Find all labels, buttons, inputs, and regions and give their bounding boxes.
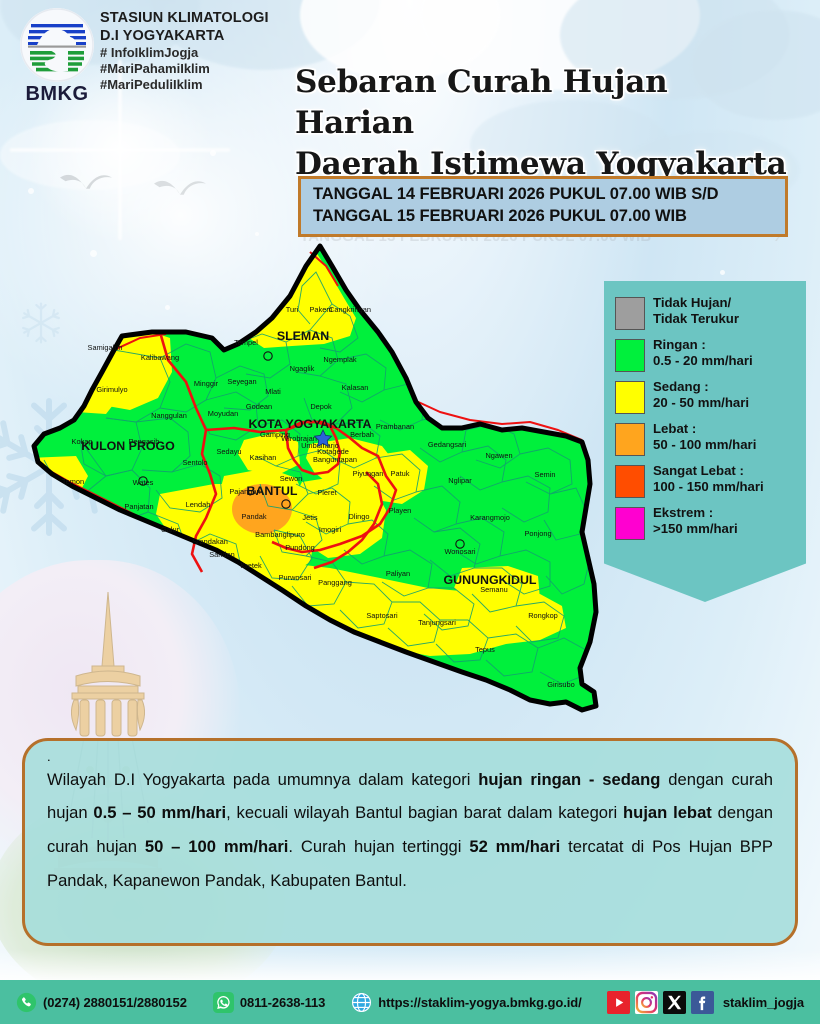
regency-label: BANTUL — [247, 484, 298, 498]
description-box: . Wilayah D.I Yogyakarta pada umumnya da… — [22, 738, 798, 946]
district-label: Pleret — [317, 488, 336, 497]
district-label: Sanden — [209, 550, 234, 559]
district-label: Berbah — [350, 430, 374, 439]
district-label: Turi — [286, 305, 299, 314]
district-label: Panggang — [318, 578, 352, 587]
district-label: Lendah — [186, 500, 211, 509]
district-label: Girisubo — [547, 680, 575, 689]
legend-swatch — [615, 381, 645, 414]
bird-icon — [58, 172, 114, 198]
district-label: Ngaglik — [290, 364, 315, 373]
description-text: Wilayah D.I Yogyakarta pada umumnya dala… — [47, 763, 773, 898]
legend-label: Sedang :20 - 50 mm/hari — [653, 379, 749, 412]
page-title: Sebaran Curah Hujan Harian Daerah Istime… — [295, 62, 795, 186]
district-label: Temon — [62, 477, 84, 486]
district-label: Tepus — [475, 645, 495, 654]
district-label: Girimulyo — [96, 385, 127, 394]
regency-label: SLEMAN — [277, 329, 329, 343]
district-label: Playen — [389, 506, 412, 515]
district-label: Dlingo — [349, 512, 370, 521]
district-label: Tanjungsari — [418, 618, 456, 627]
legend-swatch — [615, 297, 645, 330]
hashtag-info-iklim-jogja: # InfoIklimJogja — [100, 45, 320, 61]
district-label: Nglipar — [448, 476, 472, 485]
district-label: Moyudan — [208, 409, 238, 418]
district-label: Piyungan — [353, 469, 384, 478]
district-label: Tempel — [234, 338, 258, 347]
legend-label: Ekstrem :>150 mm/hari — [653, 505, 738, 538]
district-label: Semin — [535, 470, 556, 479]
legend-swatch — [615, 339, 645, 372]
district-label: Kalasan — [342, 383, 369, 392]
district-label: Minggir — [194, 379, 219, 388]
social-handle[interactable]: staklim_jogja — [723, 995, 804, 1010]
district-label: Kretek — [240, 561, 262, 570]
title-line-1: Sebaran Curah Hujan Harian — [295, 62, 795, 144]
hashtag-mari-peduli-iklim: #MariPeduliIklim — [100, 77, 320, 93]
snow-dot — [28, 188, 34, 194]
bmkg-logo-icon — [20, 8, 94, 82]
bmkg-logo-text: BMKG — [14, 83, 100, 106]
lead-dot: . — [47, 751, 773, 763]
district-label: Gamping — [260, 430, 290, 439]
footer-fade — [0, 950, 820, 980]
regency-label: GUNUNGKIDUL — [444, 573, 537, 587]
district-label: Galur — [161, 525, 180, 534]
legend-label: Lebat :50 - 100 mm/hari — [653, 421, 756, 454]
date-line-1: TANGGAL 14 FEBRUARI 2026 PUKUL 07.00 WIB… — [313, 184, 773, 206]
phone-icon — [16, 992, 37, 1013]
district-label: Mlati — [265, 387, 281, 396]
date-banner: TANGGAL 14 FEBRUARI 2026 PUKUL 07.00 WIB… — [298, 176, 788, 237]
legend-row: Tidak Hujan/Tidak Terukur — [615, 295, 798, 330]
district-label: Bambanglipuro — [255, 530, 305, 539]
district-label: Panjatan — [124, 502, 153, 511]
legend-row: Sangat Lebat :100 - 150 mm/hari — [615, 463, 798, 498]
district-label: Banguntapan — [313, 455, 357, 464]
rainfall-map[interactable]: SamigaluhKalibawangGirimulyoNanggulanKok… — [10, 232, 630, 732]
whatsapp-icon — [213, 992, 234, 1013]
legend-row: Ringan :0.5 - 20 mm/hari — [615, 337, 798, 372]
x-twitter-icon[interactable] — [663, 991, 686, 1014]
regency-label: KULON PROGO — [81, 439, 175, 453]
district-label: Pundong — [285, 543, 315, 552]
district-label: Paliyan — [386, 569, 410, 578]
legend-row: Sedang :20 - 50 mm/hari — [615, 379, 798, 414]
legend-row: Ekstrem :>150 mm/hari — [615, 505, 798, 540]
regency-label: KOTA YOGYAKARTA — [249, 417, 372, 431]
instagram-icon[interactable] — [635, 991, 658, 1014]
district-label: Ponjong — [524, 529, 551, 538]
legend-swatch — [615, 423, 645, 456]
facebook-icon[interactable] — [691, 991, 714, 1014]
legend-swatch — [615, 465, 645, 498]
district-label: Depok — [310, 402, 332, 411]
bird-icon — [152, 178, 208, 204]
district-label: Sentolo — [182, 458, 207, 467]
district-label: Nanggulan — [151, 411, 187, 420]
phone-number[interactable]: (0274) 2880151/2880152 — [43, 995, 187, 1010]
district-label: Samigaluh — [88, 343, 123, 352]
legend-label: Ringan :0.5 - 20 mm/hari — [653, 337, 753, 370]
district-label: Sewon — [280, 474, 303, 483]
district-label: Rongkop — [528, 611, 558, 620]
org-name-line2: D.I YOGYAKARTA — [100, 28, 320, 46]
globe-icon — [351, 992, 372, 1013]
district-label: Patuk — [391, 469, 410, 478]
district-label: Purwosari — [279, 573, 312, 582]
hashtag-mari-pahami-iklim: #MariPahamiIklim — [100, 61, 320, 77]
organization-block: STASIUN KLIMATOLOGI D.I YOGYAKARTA # Inf… — [100, 10, 320, 93]
district-label: Ngawen — [485, 451, 512, 460]
district-label: Ngemplak — [323, 355, 357, 364]
district-label: Imogiri — [319, 525, 342, 534]
website-url[interactable]: https://staklim-yogya.bmkg.go.id/ — [378, 995, 581, 1010]
legend-panel: Tidak Hujan/Tidak TerukurRingan :0.5 - 2… — [604, 281, 806, 602]
district-label: Gedangsari — [428, 440, 467, 449]
snow-dot — [210, 150, 216, 156]
date-line-2: TANGGAL 15 FEBRUARI 2026 PUKUL 07.00 WIB — [313, 206, 773, 228]
youtube-icon[interactable] — [607, 991, 630, 1014]
district-label: Srandakan — [192, 537, 228, 546]
district-label: Pandak — [241, 512, 266, 521]
district-label: Saptosari — [366, 611, 398, 620]
header-band: BMKG STASIUN KLIMATOLOGI D.I YOGYAKARTA … — [0, 0, 820, 128]
legend-row: Lebat :50 - 100 mm/hari — [615, 421, 798, 456]
legend-label: Tidak Hujan/Tidak Terukur — [653, 295, 739, 328]
district-label: Karangmojo — [470, 513, 510, 522]
district-label: Cangkringan — [329, 305, 371, 314]
district-label: Kasihan — [250, 453, 277, 462]
district-label: Sedayu — [216, 447, 241, 456]
legend-swatch — [615, 507, 645, 540]
bmkg-logo: BMKG — [14, 8, 100, 108]
district-label: Kalibawang — [141, 353, 179, 362]
district-label: Seyegan — [227, 377, 256, 386]
district-label: Godean — [246, 402, 272, 411]
footer-bar: (0274) 2880151/2880152 0811-2638-113 htt… — [0, 980, 820, 1024]
snow-dot — [720, 270, 725, 275]
whatsapp-number[interactable]: 0811-2638-113 — [240, 995, 325, 1010]
district-label: Jetis — [302, 513, 318, 522]
legend-label: Sangat Lebat :100 - 150 mm/hari — [653, 463, 764, 496]
org-name-line1: STASIUN KLIMATOLOGI — [100, 10, 320, 28]
district-label: Prambanan — [376, 422, 414, 431]
